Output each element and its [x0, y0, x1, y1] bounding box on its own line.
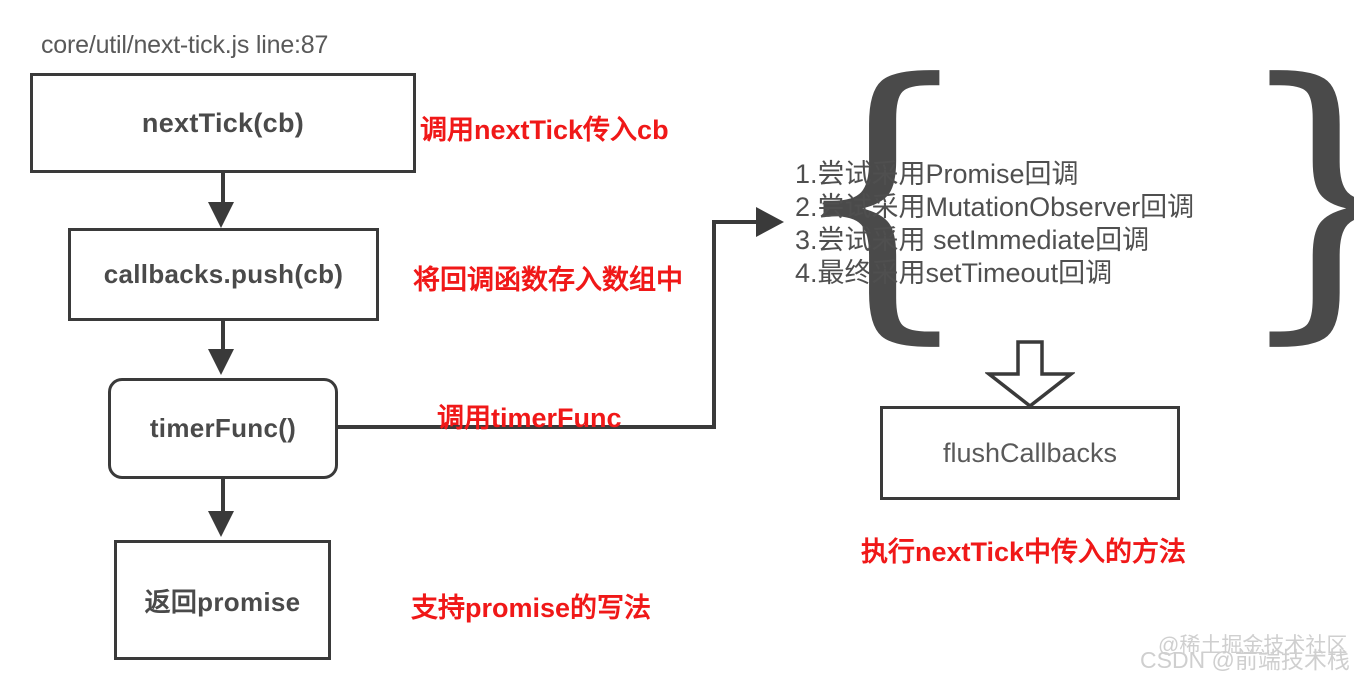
- flow-box-label: callbacks.push(cb): [104, 259, 343, 290]
- diagram-canvas: core/util/next-tick.js line:87 nextTick(…: [0, 0, 1354, 676]
- arrow-head-down-icon: [208, 511, 234, 537]
- flow-box-label: timerFunc(): [150, 413, 296, 444]
- annotation-store-callbacks: 将回调函数存入数组中: [413, 258, 683, 297]
- flow-box-return-promise: 返回promise: [114, 540, 331, 660]
- annotation-call-next-tick: 调用nextTick传入cb: [420, 108, 669, 147]
- connector-line-timer-func-to-return-promise: [221, 479, 225, 513]
- annotation-support-promise: 支持promise的写法: [411, 586, 651, 625]
- flow-box-label: nextTick(cb): [142, 108, 304, 139]
- option-item: 3.尝试采用 setImmediate回调: [795, 224, 1245, 257]
- options-list: 1.尝试采用Promise回调 2.尝试采用MutationObserver回调…: [795, 158, 1245, 290]
- arrow-head-down-icon: [208, 202, 234, 228]
- option-item: 2.尝试采用MutationObserver回调: [795, 191, 1245, 224]
- flow-box-timer-func: timerFunc(): [108, 378, 338, 479]
- option-item: 1.尝试采用Promise回调: [795, 158, 1245, 191]
- connector-line-callbacks-to-timer-func: [221, 321, 225, 351]
- flow-box-label: flushCallbacks: [943, 438, 1117, 469]
- flow-box-next-tick: nextTick(cb): [30, 73, 416, 173]
- flow-box-flush-callbacks: flushCallbacks: [880, 406, 1180, 500]
- arrow-head-down-icon: [208, 349, 234, 375]
- watermark-csdn: CSDN @前端技术栈: [1140, 641, 1350, 675]
- brace-right-icon: }: [1232, 52, 1354, 337]
- flow-box-callbacks-push: callbacks.push(cb): [68, 228, 379, 321]
- option-item: 4.最终采用setTimeout回调: [795, 257, 1245, 290]
- arrow-head-right-icon: [756, 207, 784, 237]
- annotation-call-timer-func: 调用timerFunc: [437, 396, 622, 435]
- annotation-exec-next-tick: 执行nextTick中传入的方法: [861, 530, 1186, 569]
- source-file-caption: core/util/next-tick.js line:87: [41, 31, 328, 60]
- block-arrow-down-icon: [985, 340, 1075, 408]
- connector-segment-vertical-up: [712, 222, 716, 429]
- flow-box-label: 返回promise: [145, 582, 301, 619]
